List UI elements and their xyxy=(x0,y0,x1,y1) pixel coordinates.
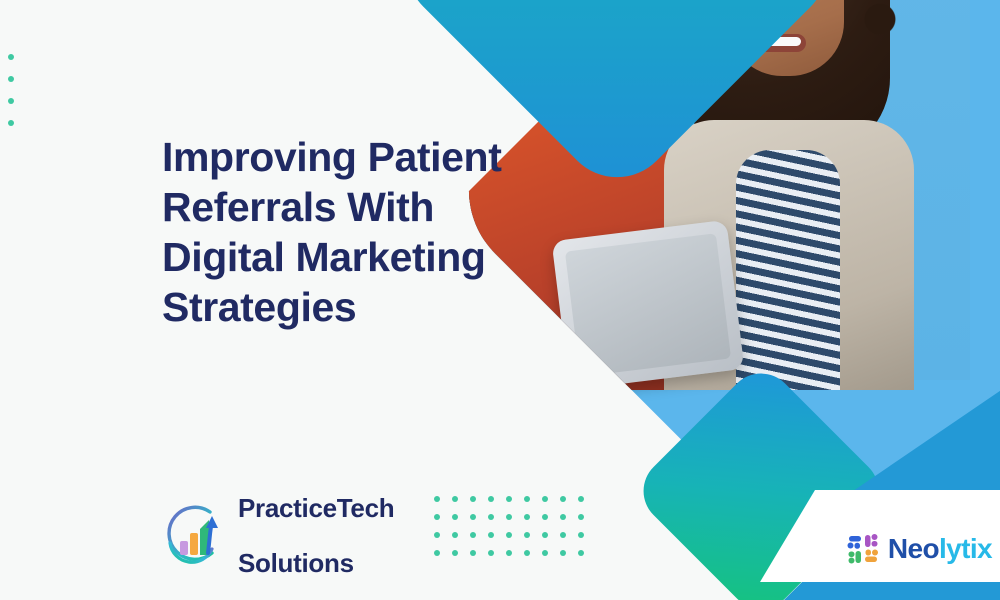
dot xyxy=(578,550,584,556)
dot-column-decoration xyxy=(8,54,14,126)
dot xyxy=(434,496,440,502)
dot xyxy=(524,550,530,556)
neolytix-word-part-1: Neo xyxy=(888,533,939,564)
dot xyxy=(542,550,548,556)
dot xyxy=(506,532,512,538)
dot xyxy=(488,550,494,556)
dot xyxy=(488,532,494,538)
dot xyxy=(470,496,476,502)
dot xyxy=(434,514,440,520)
dot xyxy=(560,496,566,502)
dot xyxy=(560,550,566,556)
dot xyxy=(452,514,458,520)
dot xyxy=(578,532,584,538)
dot xyxy=(524,514,530,520)
dot xyxy=(506,496,512,502)
neolytix-wordmark: Neolytix xyxy=(888,533,992,565)
tablet-device xyxy=(552,220,745,390)
dot xyxy=(470,514,476,520)
dot xyxy=(542,496,548,502)
dot xyxy=(452,496,458,502)
dot xyxy=(524,532,530,538)
neolytix-mark-icon xyxy=(846,532,880,566)
dot xyxy=(488,514,494,520)
dot xyxy=(542,514,548,520)
practicetech-line-1: PracticeTech xyxy=(238,495,394,522)
dot xyxy=(434,532,440,538)
dot xyxy=(452,550,458,556)
slide-canvas: Improving Patient Referrals With Digital… xyxy=(0,0,1000,600)
dot xyxy=(506,514,512,520)
practicetech-wordmark: PracticeTech Solutions xyxy=(238,468,394,600)
dot-grid-decoration xyxy=(434,496,596,568)
neolytix-logo: Neolytix xyxy=(846,532,992,566)
practicetech-logo: PracticeTech Solutions xyxy=(160,468,394,600)
dot xyxy=(452,532,458,538)
dot xyxy=(8,120,14,126)
dot xyxy=(8,98,14,104)
dot xyxy=(560,532,566,538)
dot xyxy=(488,496,494,502)
dot xyxy=(560,514,566,520)
circular-arc-bar-chart-arrow-icon xyxy=(160,503,226,569)
practicetech-mark-icon xyxy=(160,503,226,569)
dot xyxy=(8,54,14,60)
practicetech-line-2: Solutions xyxy=(238,550,394,577)
dot xyxy=(506,550,512,556)
dot xyxy=(8,76,14,82)
dot xyxy=(524,496,530,502)
dot xyxy=(578,514,584,520)
dot xyxy=(470,550,476,556)
neolytix-word-part-2: lytix xyxy=(939,533,992,564)
dot xyxy=(542,532,548,538)
dot xyxy=(434,550,440,556)
pinwheel-icon xyxy=(846,532,880,566)
dot xyxy=(578,496,584,502)
dot xyxy=(470,532,476,538)
page-title: Improving Patient Referrals With Digital… xyxy=(162,132,502,332)
woman-b-striped-top xyxy=(736,150,840,390)
